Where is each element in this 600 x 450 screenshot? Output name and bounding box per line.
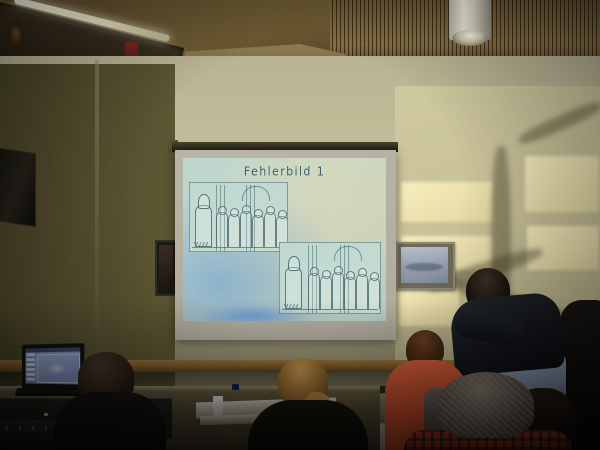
arch-window — [242, 186, 270, 201]
person-at-laptop-body — [54, 392, 166, 450]
child-figure — [228, 214, 240, 247]
signature-scribble — [194, 242, 208, 247]
bishop-figure — [195, 205, 212, 247]
photo-scene: Fehlerbild 1 — [0, 0, 600, 450]
child-figure — [344, 277, 356, 309]
presenter-laptop[interactable] — [22, 343, 84, 391]
laptop-slide-canvas — [37, 354, 80, 384]
rack-led — [44, 413, 48, 416]
wall-corner-edge — [95, 60, 99, 390]
child-figure — [356, 274, 368, 309]
child-figure — [308, 273, 320, 309]
child-figure — [264, 212, 276, 247]
laptop-toolbar — [26, 347, 81, 352]
sun-patch — [525, 156, 599, 212]
projection-screen: Fehlerbild 1 — [175, 150, 396, 340]
arch-window — [334, 246, 362, 261]
frame-right-artwork — [401, 247, 448, 283]
laptop-screen — [26, 347, 81, 384]
sun-patch — [401, 182, 493, 222]
frame-left-artwork — [159, 245, 173, 287]
water-bottle — [230, 388, 241, 418]
projector-glow — [193, 305, 313, 321]
child-figure — [240, 211, 252, 247]
bishop-figure — [285, 267, 302, 309]
child-figure — [216, 212, 228, 247]
projected-slide: Fehlerbild 1 — [183, 158, 386, 321]
paper-cup — [213, 396, 223, 416]
child-figure — [320, 276, 332, 309]
floor-line — [192, 247, 285, 248]
frame-right — [396, 242, 455, 290]
speaker-icon — [0, 147, 36, 228]
child-figure — [368, 278, 380, 309]
child-figure — [332, 272, 344, 309]
laptop-slide-panel — [26, 353, 34, 381]
person-grey-hair-head — [438, 372, 534, 438]
downlight-lens — [452, 30, 488, 46]
child-figure — [252, 215, 264, 247]
slide-image-b — [279, 242, 381, 314]
slide-image-a — [189, 182, 288, 252]
leaf-shadow — [516, 98, 600, 147]
slide-title: Fehlerbild 1 — [183, 164, 386, 179]
